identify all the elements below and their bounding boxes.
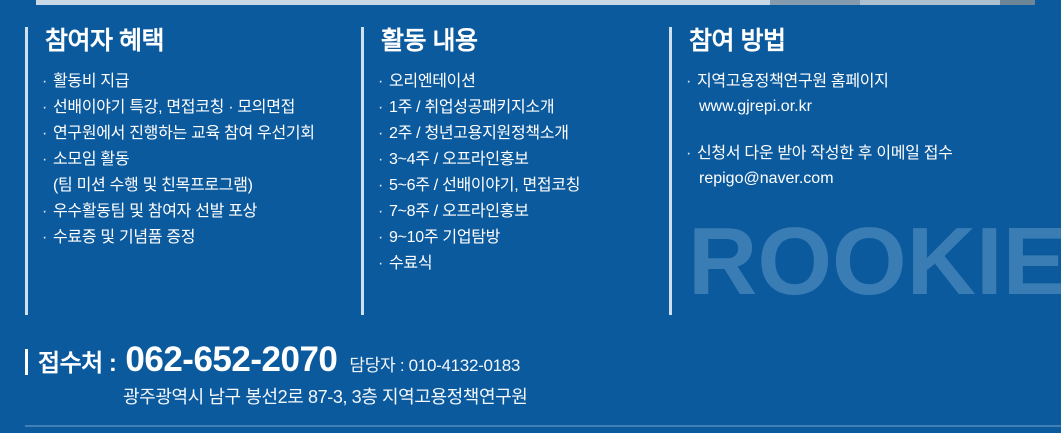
bullet-dot-icon: · [42,225,53,251]
bullet-dot-icon: · [378,199,389,225]
list-item-label: 7~8주 / 오프라인홍보 [389,203,529,220]
website-url[interactable]: www.gjrepi.or.kr [686,94,1049,119]
bullet-dot-icon: · [42,121,53,147]
top-crop-sliver-shadow [0,5,1061,8]
list-item-label: 수료식 [389,255,432,272]
column-benefits: 참여자 혜택 ·활동비 지급 ·선배이야기 특강, 면접코칭 · 모의면접 ·연… [25,27,355,315]
list-item-label: 연구원에서 진행하는 교육 참여 우선기회 [53,125,315,142]
list-item: ·우수활동팀 및 참여자 선발 포상 [42,199,355,225]
contact-phone: 062-652-2070 [125,342,337,378]
list-item-label: 2주 / 청년고용지원정책소개 [389,125,569,142]
contact-manager: 담당자 : 010-4132-0183 [349,351,520,376]
bullet-dot-icon: · [378,69,389,95]
list-item-label: (팀 미션 수행 및 친목프로그램) [53,177,253,194]
bullet-dot-icon: · [378,251,389,277]
list-item-label: 활동비 지급 [53,73,129,90]
column-divider-howto [669,27,672,315]
list-item: ·3~4주 / 오프라인홍보 [378,147,661,173]
organization-address: 광주광역시 남구 봉선2로 87-3, 3층 지역고용정책연구원 [123,383,527,409]
bullet-dot-icon: · [42,199,53,225]
list-item: ·5~6주 / 선배이야기, 면접코칭 [378,173,661,199]
heading-benefits: 참여자 혜택 [45,27,355,55]
bullet-dot-icon: · [686,69,697,94]
list-item-label: 5~6주 / 선배이야기, 면접코칭 [389,177,580,194]
list-item-label: 1주 / 취업성공패키지소개 [389,99,554,116]
email-address[interactable]: repigo@naver.com [686,166,1049,191]
column-program: 활동 내용 ·오리엔테이션 ·1주 / 취업성공패키지소개 ·2주 / 청년고용… [361,27,661,315]
bullet-dot-icon: · [378,225,389,251]
list-benefits: ·활동비 지급 ·선배이야기 특강, 면접코칭 · 모의면접 ·연구원에서 진행… [42,69,355,251]
list-item: ·수료식 [378,251,661,277]
list-item: ·활동비 지급 [42,69,355,95]
list-item-label: 우수활동팀 및 참여자 선발 포상 [53,203,257,220]
list-item: ·연구원에서 진행하는 교육 참여 우선기회 [42,121,355,147]
bullet-dot-icon: · [378,173,389,199]
bullet-dot-icon: · [42,147,53,173]
list-item-label: 오리엔테이션 [389,73,476,90]
list-item-label: 소모임 활동 [53,151,129,168]
bullet-dot-icon: · [378,147,389,173]
column-howto: 참여 방법 ·지역고용정책연구원 홈페이지 www.gjrepi.or.kr ·… [669,27,1049,315]
poster-canvas: ROOKIE 참여자 혜택 ·활동비 지급 ·선배이야기 특강, 면접코칭 · … [0,0,1061,433]
heading-program: 활동 내용 [381,27,661,55]
bullet-dot-icon: · [42,69,53,95]
list-item: ·지역고용정책연구원 홈페이지 [686,69,1049,94]
list-item-label: 9~10주 기업탐방 [389,229,500,246]
bullet-dot-icon: · [42,95,53,121]
list-item-label: 지역고용정책연구원 홈페이지 [697,73,889,90]
list-howto: ·지역고용정책연구원 홈페이지 www.gjrepi.or.kr ·신청서 다운… [686,69,1049,191]
footer-divider [25,425,1061,427]
list-item-label: 수료증 및 기념품 증정 [53,229,195,246]
heading-howto: 참여 방법 [689,27,1049,55]
list-item: ·7~8주 / 오프라인홍보 [378,199,661,225]
list-item: ·신청서 다운 받아 작성한 후 이메일 접수 [686,119,1049,166]
list-item: ·선배이야기 특강, 면접코칭 · 모의면접 [42,95,355,121]
list-item-label: 신청서 다운 받아 작성한 후 이메일 접수 [697,145,953,162]
contact-accent-bar [25,349,28,375]
bullet-dot-icon: · [378,121,389,147]
footer: 접수처 : 062-652-2070 담당자 : 010-4132-0183 광… [0,336,1061,433]
bullet-dot-icon: · [378,95,389,121]
contact-label: 접수처 : [38,343,116,378]
list-item: ·수료증 및 기념품 증정 [42,225,355,251]
list-item: ·1주 / 취업성공패키지소개 [378,95,661,121]
bullet-dot-icon: · [686,141,697,166]
column-divider-program [361,27,364,315]
list-item-label: 3~4주 / 오프라인홍보 [389,151,529,168]
list-item-sub: (팀 미션 수행 및 친목프로그램) [42,173,355,199]
column-divider-benefits [25,27,28,315]
list-item: ·오리엔테이션 [378,69,661,95]
list-item-label: 선배이야기 특강, 면접코칭 · 모의면접 [53,99,295,116]
list-item: ·소모임 활동 [42,147,355,173]
list-program: ·오리엔테이션 ·1주 / 취업성공패키지소개 ·2주 / 청년고용지원정책소개… [378,69,661,277]
list-item: ·2주 / 청년고용지원정책소개 [378,121,661,147]
contact-row: 접수처 : 062-652-2070 담당자 : 010-4132-0183 [25,342,520,378]
list-item: ·9~10주 기업탐방 [378,225,661,251]
